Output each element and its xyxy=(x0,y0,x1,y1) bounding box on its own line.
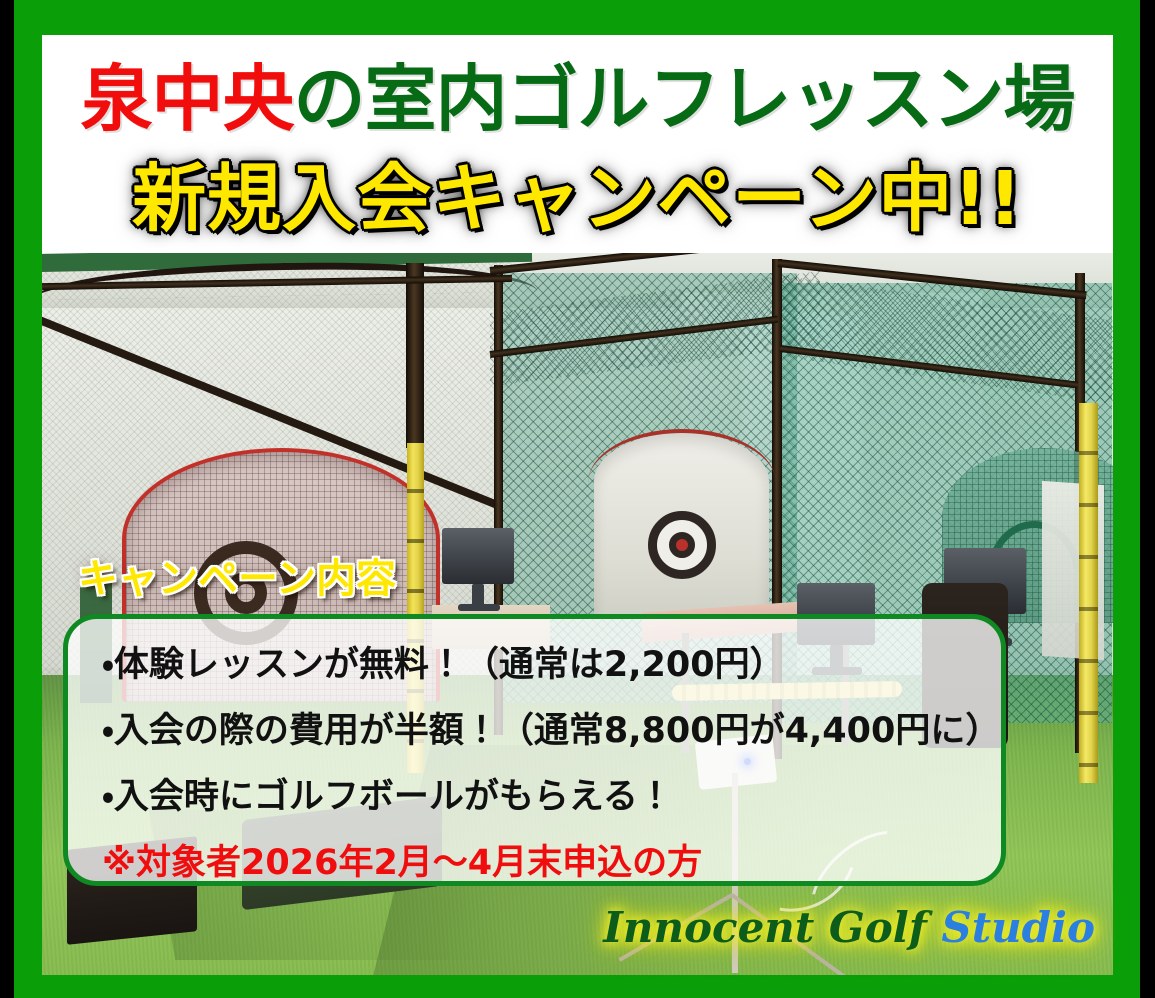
campaign-banner: 泉中央の室内ゴルフレッスン場 新規入会キャンペーン中!! キャンペーン内容 ・体… xyxy=(0,0,1155,998)
campaign-details-card: ・体験レッスンが無料！（通常は2,200円） ・入会の際の費用が半額！（通常8,… xyxy=(63,614,1006,886)
bottom-green-band xyxy=(14,975,1140,998)
logo-text-secondary: Studio xyxy=(927,903,1095,952)
header-panel: 泉中央の室内ゴルフレッスン場 新規入会キャンペーン中!! xyxy=(42,35,1113,253)
campaign-content-label: キャンペーン内容 xyxy=(78,556,396,602)
monitor-left-stand xyxy=(472,584,484,606)
headline-primary: 泉中央の室内ゴルフレッスン場 xyxy=(42,57,1113,141)
headline-location: 泉中央 xyxy=(80,57,293,141)
campaign-eligibility-note: ※対象者2026年2月～4月末申込の方 xyxy=(102,843,967,883)
center-bullseye-target xyxy=(648,511,716,579)
left-frame-post-upper xyxy=(406,263,424,448)
monitor-left-base xyxy=(458,604,500,611)
logo-text-primary: Innocent Golf xyxy=(603,903,927,952)
campaign-bullet-3: ・入会時にゴルフボールがもらえる！ xyxy=(102,777,967,817)
brand-logo: Innocent Golf Studio xyxy=(591,900,1107,956)
monitor-left xyxy=(442,528,514,584)
campaign-bullet-2: ・入会の際の費用が半額！（通常8,800円が4,400円に） xyxy=(102,711,967,751)
yellow-post-protector-right xyxy=(1079,403,1098,783)
headline-campaign: 新規入会キャンペーン中!! xyxy=(42,155,1113,243)
headline-subject: の室内ゴルフレッスン場 xyxy=(294,57,1075,141)
campaign-bullet-1: ・体験レッスンが無料！（通常は2,200円） xyxy=(102,645,967,685)
